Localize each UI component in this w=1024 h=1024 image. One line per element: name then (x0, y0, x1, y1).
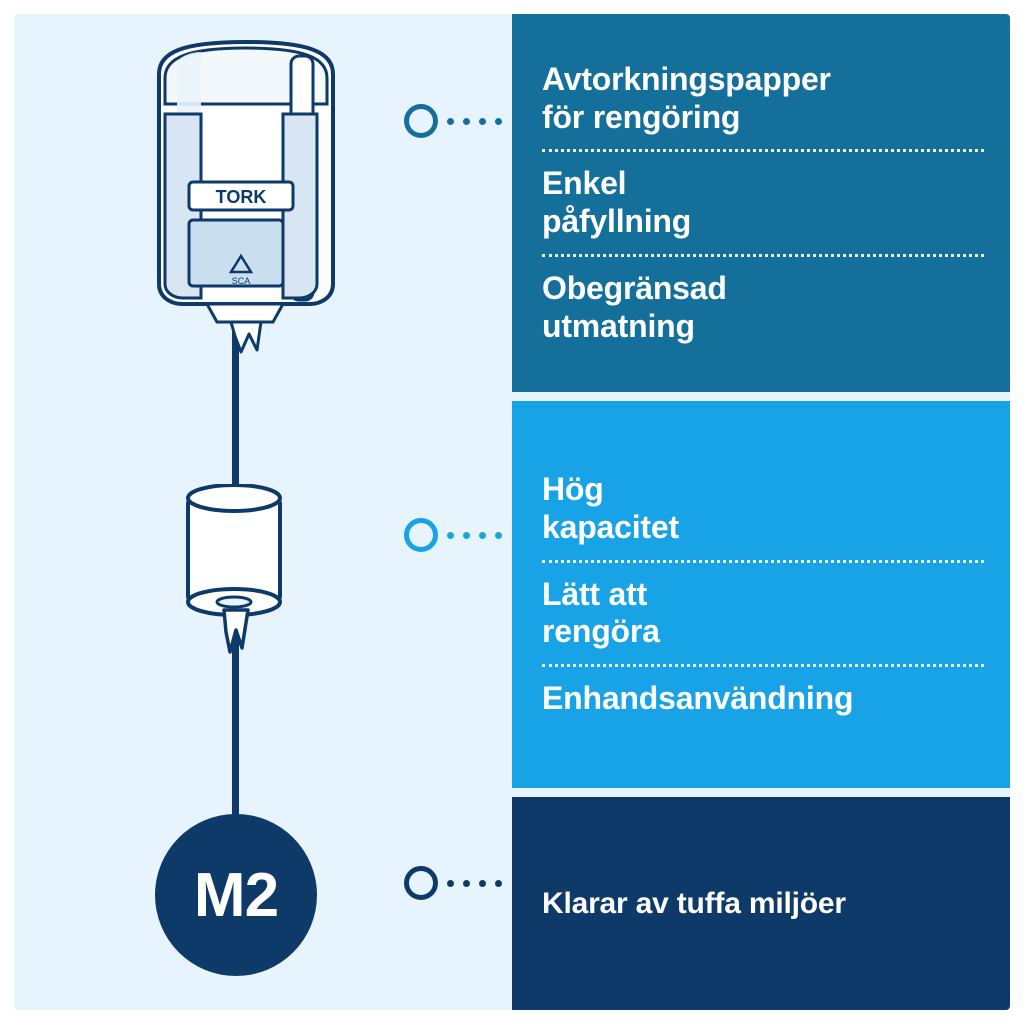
product-illustration-column: TORK SCA M2 (14, 14, 512, 1010)
system-code-label: M2 (194, 860, 278, 931)
connector-system (404, 866, 511, 900)
connector-dots-icon (447, 532, 511, 539)
connector-ring-icon (404, 518, 438, 552)
feature-item: Hög kapacitet (542, 462, 984, 556)
feature-divider (542, 664, 984, 667)
connector-ring-icon (404, 866, 438, 900)
feature-panel-refill: Hög kapacitet Lätt att rengöra Enhandsan… (512, 401, 1010, 788)
feature-divider (542, 560, 984, 563)
feature-panel-system: Klarar av tuffa miljöer (512, 797, 1010, 1010)
system-code-badge: M2 (155, 814, 317, 976)
paper-roll-icon (174, 484, 304, 664)
feature-item: Lätt att rengöra (542, 567, 984, 661)
infographic-canvas: TORK SCA M2 (0, 0, 1024, 1024)
feature-divider (542, 254, 984, 257)
dispenser-icon: TORK SCA (131, 34, 361, 354)
feature-item: Enkel påfyllning (542, 156, 984, 250)
connector-ring-icon (404, 104, 438, 138)
feature-item: Enhandsanvändning (542, 671, 984, 727)
feature-item: Avtorkningspapper för rengöring (542, 52, 984, 146)
svg-text:SCA: SCA (232, 276, 251, 286)
svg-text:TORK: TORK (216, 187, 267, 207)
feature-divider (542, 149, 984, 152)
feature-item: Obegränsad utmatning (542, 261, 984, 355)
connector-roll (404, 518, 511, 552)
feature-panel-dispenser: Avtorkningspapper för rengöring Enkel på… (512, 14, 1010, 392)
connector-dispenser (404, 104, 511, 138)
feature-item: Klarar av tuffa miljöer (542, 886, 984, 921)
connector-dots-icon (447, 118, 511, 125)
connector-dots-icon (447, 880, 511, 887)
